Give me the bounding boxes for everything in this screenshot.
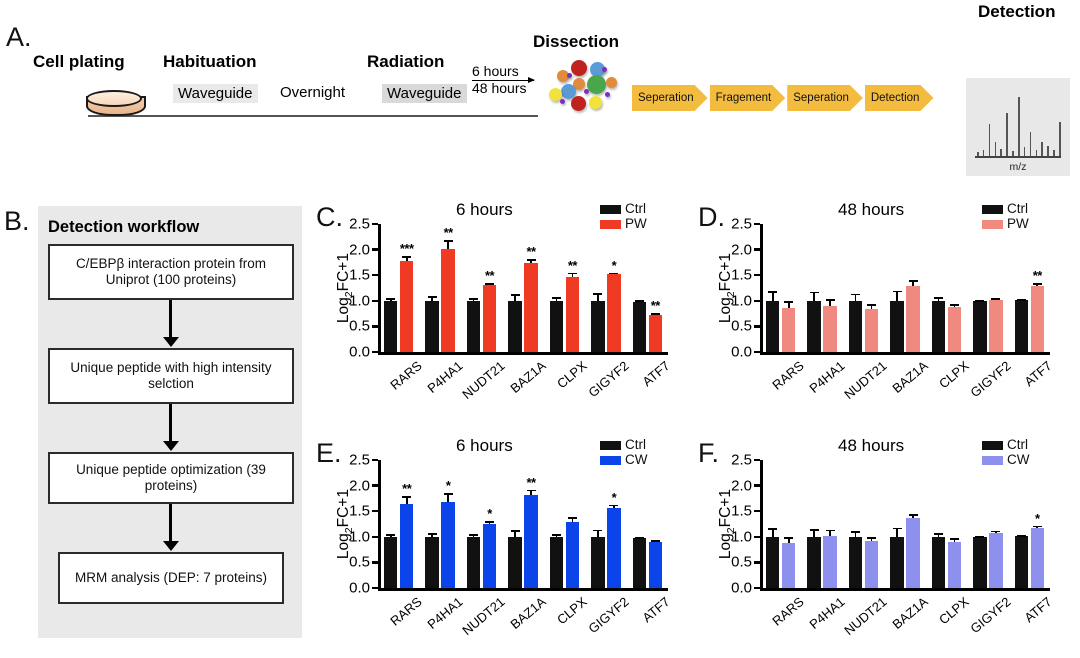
pipeline-step-seperation: Seperation <box>632 85 708 111</box>
bar-BAZ1A-Ctrl <box>890 301 904 352</box>
pipeline-step-detection: Detection <box>865 85 934 111</box>
y-tick-label: 0.0 <box>330 580 370 597</box>
bar-GIGYF2-PW <box>607 274 621 352</box>
error-bar-cap <box>934 533 943 535</box>
legend-item-ctrl: Ctrl <box>982 438 1030 453</box>
bar-RARS-PW <box>400 261 414 352</box>
error-bar-cap <box>909 514 918 516</box>
cell-dot <box>589 96 602 109</box>
bar-CLPX-CW <box>948 542 962 588</box>
significance-marker: * <box>612 258 617 273</box>
bar-ATF7-CW <box>1031 528 1045 588</box>
y-tick <box>754 510 760 512</box>
error-bar-cap <box>402 256 411 258</box>
y-tick <box>372 300 378 302</box>
pipeline-step-fragement: Fragement <box>710 85 786 111</box>
error-bar-cap <box>444 493 453 495</box>
y-tick-label: 2.5 <box>330 452 370 469</box>
spectrum-peak <box>1041 142 1043 156</box>
bar-P4HA1-CW <box>441 502 455 588</box>
y-axis-title: Log2FC+1 <box>335 469 355 579</box>
legend-label: Ctrl <box>625 438 646 452</box>
bar-P4HA1-Ctrl <box>425 301 439 352</box>
workflow-arrow-3-icon <box>169 504 172 542</box>
cell-dot <box>587 75 606 94</box>
bar-NUDT21-CW <box>865 541 879 588</box>
plot-area: 0.00.51.01.52.02.5* <box>760 460 1050 588</box>
y-tick <box>754 561 760 563</box>
bar-RARS-CW <box>400 504 414 588</box>
legend-label: Ctrl <box>1007 202 1028 216</box>
y-axis-title: Log2FC+1 <box>717 469 737 579</box>
error-bar-cap <box>851 531 860 533</box>
workflow-step-1: C/EBPβ interaction protein from Uniprot … <box>48 244 294 300</box>
chart-panel-f: F.48 hoursCtrlCW0.00.51.01.52.02.5*Log2F… <box>698 434 1070 656</box>
y-tick <box>372 223 378 225</box>
bar-CLPX-CW <box>566 522 580 588</box>
y-tick <box>372 459 378 461</box>
workflow-step-2: Unique peptide with high intensity selct… <box>48 348 294 404</box>
y-tick <box>754 325 760 327</box>
chart-panel-e: E.6 hoursCtrlCW0.00.51.01.52.02.5*******… <box>316 434 688 656</box>
y-tick <box>372 536 378 538</box>
plot-area: 0.00.51.01.52.02.5******* <box>378 460 668 588</box>
bar-NUDT21-PW <box>865 309 879 352</box>
bar-P4HA1-Ctrl <box>807 301 821 352</box>
bar-CLPX-Ctrl <box>932 537 946 588</box>
label-radiation: Radiation <box>367 52 444 72</box>
error-bar-cap <box>1033 283 1042 285</box>
y-axis-title: Log2FC+1 <box>717 233 737 343</box>
y-tick <box>372 510 378 512</box>
y-tick <box>754 351 760 353</box>
error-bar-cap <box>1017 535 1026 537</box>
mass-spectrum-axis <box>975 156 1061 158</box>
error-bar-cap <box>609 505 618 507</box>
y-axis <box>378 224 381 354</box>
bar-P4HA1-PW <box>823 306 837 352</box>
workflow-title: Detection workflow <box>48 218 199 237</box>
y-tick-label: 0.0 <box>330 344 370 361</box>
error-bar-cap <box>826 530 835 532</box>
cell-dot <box>606 77 617 88</box>
significance-marker: * <box>487 506 492 521</box>
bar-NUDT21-Ctrl <box>467 537 481 588</box>
y-tick-label: 0.0 <box>712 344 752 361</box>
significance-marker: ** <box>485 268 494 283</box>
y-tick <box>372 351 378 353</box>
y-tick <box>754 536 760 538</box>
legend-item-ctrl: Ctrl <box>600 438 648 453</box>
error-bar-cap <box>428 533 437 535</box>
workflow-arrow-2-icon <box>169 404 172 442</box>
y-tick <box>754 484 760 486</box>
error-bar-cap <box>893 528 902 530</box>
timeline-axis <box>88 115 538 117</box>
bar-BAZ1A-PW <box>906 286 920 352</box>
error-bar-cap <box>810 292 819 294</box>
significance-marker: *** <box>400 241 414 256</box>
ms-pipeline: SeperationFragementSeperationDetection <box>632 85 933 111</box>
error-bar-cap <box>485 283 494 285</box>
cell-dot <box>605 92 610 97</box>
spectrum-peak <box>1030 132 1032 156</box>
spectrum-peak <box>989 124 991 156</box>
pipeline-step-seperation: Seperation <box>787 85 863 111</box>
error-bar-cap <box>950 304 959 306</box>
error-bar-cap <box>593 530 602 532</box>
error-bar-cap <box>784 301 793 303</box>
error-bar-cap <box>991 531 1000 533</box>
error-bar-cap <box>893 291 902 293</box>
error-bar-cap <box>651 540 660 542</box>
chart-title: 6 hours <box>456 436 513 456</box>
cell-dot <box>560 99 565 104</box>
bar-CLPX-Ctrl <box>932 301 946 352</box>
y-tick <box>372 325 378 327</box>
bar-RARS-PW <box>782 308 796 352</box>
label-48-hours: 48 hours <box>472 81 534 96</box>
bar-BAZ1A-Ctrl <box>508 537 522 588</box>
label-waveguide-1: Waveguide <box>173 84 258 103</box>
timepoint-branch: 6 hours 48 hours <box>472 64 534 95</box>
chart-title: 48 hours <box>838 200 904 220</box>
error-bar-cap <box>552 297 561 299</box>
significance-marker: * <box>446 478 451 493</box>
error-bar-cap <box>444 240 453 242</box>
error-bar-cap <box>810 529 819 531</box>
bar-P4HA1-PW <box>441 249 455 352</box>
workflow-arrow-1-icon <box>169 300 172 338</box>
legend-item-ctrl: Ctrl <box>600 202 647 217</box>
legend-label: Ctrl <box>1007 438 1028 452</box>
chart-panel-d: D.48 hoursCtrlPW0.00.51.01.52.02.5**Log2… <box>698 198 1070 420</box>
mass-spectrum-axis-label: m/z <box>966 161 1070 173</box>
error-bar-cap <box>635 537 644 539</box>
significance-marker: ** <box>402 481 411 496</box>
bar-RARS-Ctrl <box>766 537 780 588</box>
bar-CLPX-Ctrl <box>550 301 564 352</box>
cell-dot <box>571 96 586 111</box>
y-tick <box>754 300 760 302</box>
x-axis <box>760 588 1050 591</box>
bar-GIGYF2-Ctrl <box>591 301 605 352</box>
x-axis <box>760 352 1050 355</box>
y-tick <box>754 459 760 461</box>
bar-GIGYF2-Ctrl <box>591 537 605 588</box>
error-bar-cap <box>609 273 618 275</box>
dissected-cells-icon <box>549 58 621 114</box>
label-habituation: Habituation <box>163 52 257 72</box>
label-waveguide-2: Waveguide <box>382 84 467 103</box>
bar-CLPX-Ctrl <box>550 537 564 588</box>
bar-NUDT21-Ctrl <box>849 537 863 588</box>
error-bar-cap <box>768 528 777 530</box>
y-tick <box>372 561 378 563</box>
bar-RARS-CW <box>782 543 796 588</box>
error-bar-cap <box>511 294 520 296</box>
legend-swatch-icon <box>982 441 1003 450</box>
label-dissection: Dissection <box>533 32 619 52</box>
y-axis-title: Log2FC+1 <box>335 233 355 343</box>
bar-NUDT21-Ctrl <box>849 301 863 352</box>
significance-marker: ** <box>444 225 453 240</box>
spectrum-peak <box>1000 149 1002 156</box>
bar-ATF7-CW <box>649 542 663 588</box>
significance-marker: ** <box>526 244 535 259</box>
y-tick <box>372 484 378 486</box>
bar-GIGYF2-CW <box>607 508 621 588</box>
bar-GIGYF2-PW <box>989 300 1003 352</box>
plot-area: 0.00.51.01.52.02.5************** <box>378 224 668 352</box>
bar-ATF7-Ctrl <box>1015 536 1029 588</box>
x-axis <box>378 588 668 591</box>
bar-ATF7-Ctrl <box>633 538 647 588</box>
panel-b-detection-workflow: B. Detection workflow C/EBPβ interaction… <box>0 196 312 646</box>
bar-BAZ1A-PW <box>524 263 538 352</box>
mass-spectrum-panel: m/z <box>966 78 1070 176</box>
error-bar-cap <box>552 534 561 536</box>
chart-panel-c: C.6 hoursCtrlPW0.00.51.01.52.02.5*******… <box>316 198 688 420</box>
error-bar-cap <box>511 530 520 532</box>
spectrum-peak <box>1059 122 1061 156</box>
panel-b-letter: B. <box>4 208 30 235</box>
label-cell-plating: Cell plating <box>33 52 125 72</box>
bar-NUDT21-PW <box>483 285 497 352</box>
error-bar-cap <box>867 537 876 539</box>
error-bar-cap <box>784 537 793 539</box>
error-bar-cap <box>568 273 577 275</box>
bar-NUDT21-CW <box>483 524 497 588</box>
y-tick-label: 2.5 <box>712 216 752 233</box>
y-tick <box>372 587 378 589</box>
error-bar-cap <box>485 521 494 523</box>
legend-swatch-icon <box>600 205 621 214</box>
significance-marker: ** <box>1033 268 1042 283</box>
bar-CLPX-PW <box>948 307 962 352</box>
bar-BAZ1A-Ctrl <box>508 301 522 352</box>
error-bar-cap <box>975 536 984 538</box>
legend-swatch-icon <box>982 205 1003 214</box>
bar-BAZ1A-Ctrl <box>890 537 904 588</box>
y-tick-label: 2.5 <box>712 452 752 469</box>
error-bar-cap <box>386 298 395 300</box>
bar-BAZ1A-CW <box>524 495 538 588</box>
error-bar-cap <box>402 496 411 498</box>
cell-dot <box>567 73 572 78</box>
panel-a-letter: A. <box>6 24 32 51</box>
legend-swatch-icon <box>600 441 621 450</box>
bar-GIGYF2-CW <box>989 533 1003 588</box>
chart-title: 48 hours <box>838 436 904 456</box>
error-bar-cap <box>593 293 602 295</box>
significance-marker: ** <box>568 258 577 273</box>
spectrum-peak <box>1024 147 1026 156</box>
y-axis <box>378 460 381 590</box>
plot-area: 0.00.51.01.52.02.5** <box>760 224 1050 352</box>
error-bar-cap <box>469 534 478 536</box>
significance-marker: ** <box>526 475 535 490</box>
y-tick <box>754 587 760 589</box>
y-tick-label: 2.5 <box>330 216 370 233</box>
cell-culture-dish-icon <box>86 90 144 116</box>
error-bar-cap <box>635 300 644 302</box>
cell-dot <box>602 67 607 72</box>
bar-P4HA1-Ctrl <box>425 537 439 588</box>
bar-ATF7-PW <box>1031 286 1045 352</box>
error-bar-cap <box>527 490 536 492</box>
error-bar-cap <box>651 313 660 315</box>
bar-GIGYF2-Ctrl <box>973 301 987 352</box>
x-axis <box>378 352 668 355</box>
spectrum-peak <box>1006 113 1008 156</box>
error-bar-cap <box>991 298 1000 300</box>
significance-marker: * <box>612 490 617 505</box>
bar-RARS-Ctrl <box>384 537 398 588</box>
spectrum-peak <box>1047 146 1049 156</box>
legend-label: Ctrl <box>625 202 646 216</box>
y-tick <box>754 248 760 250</box>
bar-GIGYF2-Ctrl <box>973 537 987 588</box>
error-bar-cap <box>934 297 943 299</box>
spectrum-peak <box>1018 97 1020 156</box>
y-tick <box>754 274 760 276</box>
panel-a-experiment-timeline: A. Cell plating Habituation Radiation Di… <box>0 0 1080 160</box>
error-bar-cap <box>975 300 984 302</box>
timepoint-arrow-icon <box>472 80 534 81</box>
workflow-step-3: Unique peptide optimization (39 proteins… <box>48 452 294 504</box>
error-bar-cap <box>469 298 478 300</box>
significance-marker: * <box>1035 511 1040 526</box>
bar-ATF7-Ctrl <box>633 302 647 352</box>
error-bar-cap <box>1033 526 1042 528</box>
y-tick-label: 0.0 <box>712 580 752 597</box>
error-bar-cap <box>909 280 918 282</box>
bar-P4HA1-CW <box>823 536 837 588</box>
bar-RARS-Ctrl <box>766 301 780 352</box>
error-bar-cap <box>386 534 395 536</box>
bar-CLPX-PW <box>566 277 580 352</box>
error-bar-cap <box>867 304 876 306</box>
bar-NUDT21-Ctrl <box>467 301 481 352</box>
workflow-step-4: MRM analysis (DEP: 7 proteins) <box>58 552 284 604</box>
error-bar-cap <box>1017 299 1026 301</box>
cell-dot <box>571 60 587 76</box>
error-bar-cap <box>950 538 959 540</box>
bar-P4HA1-Ctrl <box>807 537 821 588</box>
significance-marker: ** <box>651 298 660 313</box>
label-detection-header: Detection <box>978 2 1055 22</box>
legend-item-ctrl: Ctrl <box>982 202 1029 217</box>
error-bar-cap <box>768 291 777 293</box>
error-bar-cap <box>568 517 577 519</box>
label-6-hours: 6 hours <box>472 64 534 79</box>
y-tick <box>754 223 760 225</box>
bar-RARS-Ctrl <box>384 301 398 352</box>
y-tick <box>372 248 378 250</box>
label-overnight: Overnight <box>280 84 345 101</box>
bar-ATF7-Ctrl <box>1015 300 1029 352</box>
y-axis <box>760 224 763 354</box>
error-bar-cap <box>527 259 536 261</box>
error-bar-cap <box>826 299 835 301</box>
error-bar-cap <box>428 296 437 298</box>
y-axis <box>760 460 763 590</box>
y-tick <box>372 274 378 276</box>
chart-title: 6 hours <box>456 200 513 220</box>
error-bar-cap <box>851 294 860 296</box>
spectrum-peak <box>995 142 997 156</box>
bar-ATF7-PW <box>649 315 663 352</box>
cell-dot <box>584 89 589 94</box>
bar-BAZ1A-CW <box>906 518 920 588</box>
